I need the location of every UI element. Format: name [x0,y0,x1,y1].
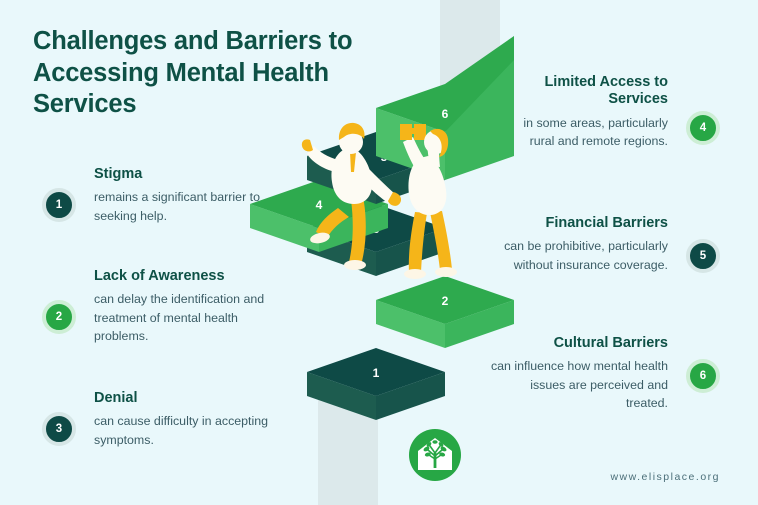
item-2-body: can delay the identification and treatme… [94,290,277,345]
item-stigma: 1 Stigma remains a significant barrier t… [42,166,272,225]
item-3-heading: Denial [94,390,272,407]
item-6-heading: Cultural Barriers [488,335,668,352]
stair-step-2-label: 2 [442,294,449,308]
badge-6: 6 [686,359,720,393]
badge-4: 4 [686,111,720,145]
infographic-poster: Challenges and Barriers to Accessing Men… [0,0,758,505]
item-denial: 3 Denial can cause difficulty in accepti… [42,390,272,449]
stair-step-1: 1 [307,348,445,420]
stair-step-6: 6 [376,36,514,180]
badge-3: 3 [42,412,76,446]
badge-5: 5 [686,239,720,273]
item-lack-of-awareness: 2 Lack of Awareness can delay the identi… [42,268,277,345]
item-limited-access-to-services: 4 Limited Access to Services in some are… [498,74,720,151]
item-3-body: can cause difficulty in accepting sympto… [94,412,272,449]
item-4-heading: Limited Access to Services [498,74,668,109]
tree-house-logo-icon [409,429,461,481]
item-1-body: remains a significant barrier to seeking… [94,188,272,225]
item-cultural-barriers: 6 Cultural Barriers can influence how me… [488,335,720,412]
item-5-body: can be prohibitive, particularly without… [488,237,668,274]
website-url: www.elisplace.org [610,471,720,483]
item-financial-barriers: 5 Financial Barriers can be prohibitive,… [488,215,720,274]
item-6-body: can influence how mental health issues a… [488,357,668,412]
badge-1: 1 [42,188,76,222]
item-4-body: in some areas, particularly rural and re… [498,114,668,151]
item-1-heading: Stigma [94,166,272,183]
stair-step-6-label: 6 [442,107,449,121]
item-2-heading: Lack of Awareness [94,268,277,285]
stair-step-1-label: 1 [373,366,380,380]
badge-2: 2 [42,300,76,334]
stair-step-4-label: 4 [316,198,323,212]
item-5-heading: Financial Barriers [488,215,668,232]
